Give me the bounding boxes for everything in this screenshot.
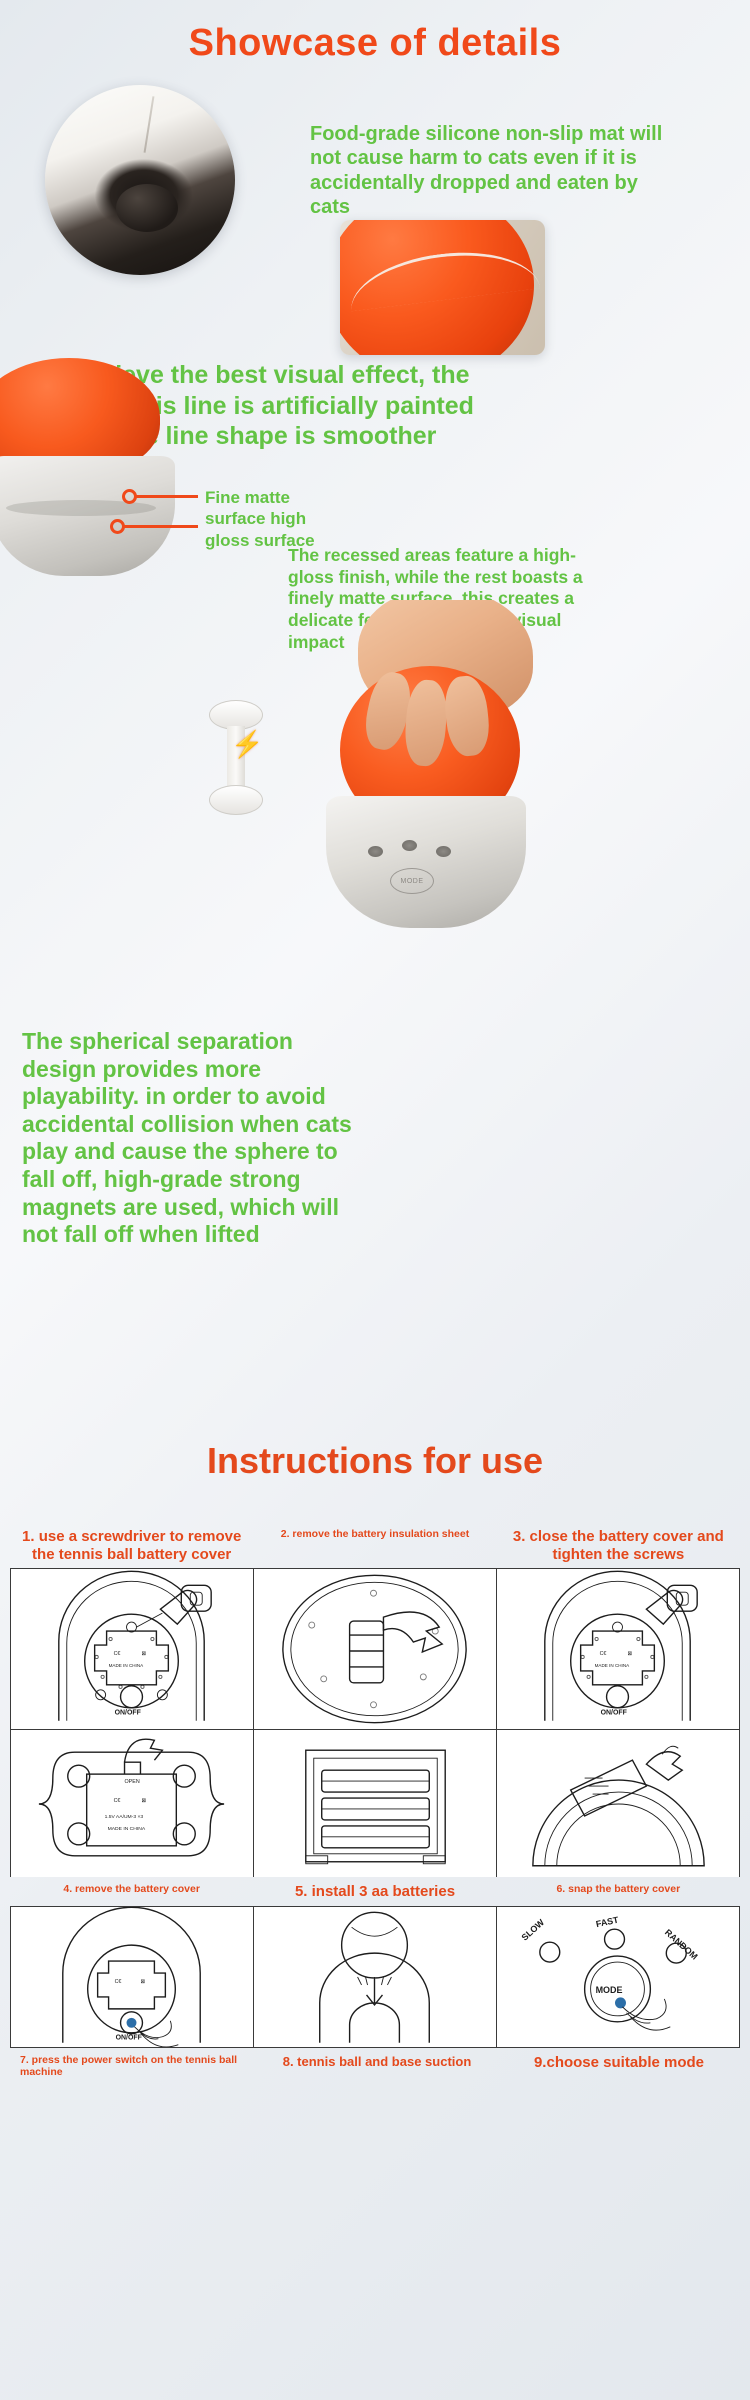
caption-row-2: 4. remove the battery cover 5. install 3… <box>10 1877 740 1906</box>
feature-text-magnet: The spherical separation design provides… <box>22 1028 352 1249</box>
callout-dot-gloss <box>110 519 125 534</box>
base-mode-button: MODE <box>390 868 434 894</box>
svg-text:ON/OFF: ON/OFF <box>116 2035 142 2042</box>
svg-text:MADE IN CHINA: MADE IN CHINA <box>109 1663 145 1668</box>
diagram-row-1: C€ ⊠ MADE IN CHINA ON/OFF <box>10 1568 740 1729</box>
diagram-row-3: C€ ⊠ ON/OFF <box>10 1906 740 2048</box>
step-caption-6: 6. snap the battery cover <box>497 1883 740 1906</box>
svg-text:SLOW: SLOW <box>520 1917 547 1943</box>
magnet-cap-bottom <box>209 785 263 815</box>
svg-text:⊠: ⊠ <box>141 1798 146 1804</box>
svg-text:OPEN: OPEN <box>125 1779 140 1785</box>
svg-text:ON/OFF: ON/OFF <box>115 1710 141 1717</box>
callout-dot-matte <box>122 489 137 504</box>
step-caption-4: 4. remove the battery cover <box>10 1883 253 1906</box>
page-title-instructions: Instructions for use <box>0 1440 750 1482</box>
svg-text:FAST: FAST <box>595 1915 620 1930</box>
step-caption-5: 5. install 3 aa batteries <box>253 1883 496 1906</box>
diagram-cell-2 <box>254 1569 497 1729</box>
diagram-cell-9: MODE SLOW FAST RANDOM <box>497 1907 739 2047</box>
svg-text:1.5V AA/UM-3 ×3: 1.5V AA/UM-3 ×3 <box>105 1814 144 1820</box>
magnet-separation-icon: ⚡ <box>205 700 267 815</box>
page-title-showcase: Showcase of details <box>0 22 750 65</box>
svg-text:C€: C€ <box>115 1979 122 1985</box>
step-caption-8: 8. tennis ball and base suction <box>256 2054 498 2084</box>
svg-text:MADE IN CHINA: MADE IN CHINA <box>108 1826 146 1832</box>
svg-text:⊠: ⊠ <box>140 1979 145 1985</box>
caption-row-1: 1. use a screwdriver to remove the tenni… <box>10 1528 740 1568</box>
diagram-cell-4: OPEN C€ ⊠ 1.5V AA/UM-3 ×3 MADE IN CHINA <box>11 1730 254 1877</box>
svg-text:RANDOM: RANDOM <box>663 1927 700 1961</box>
callout-line-matte <box>136 495 198 498</box>
diagram-cell-5 <box>254 1730 497 1877</box>
svg-text:C€: C€ <box>114 1798 121 1804</box>
svg-text:C€: C€ <box>600 1651 607 1657</box>
svg-text:⊠: ⊠ <box>627 1651 632 1657</box>
diagram-cell-1: C€ ⊠ MADE IN CHINA ON/OFF <box>11 1569 254 1729</box>
base-speaker-hole <box>368 846 383 857</box>
diagram-cell-3: C€ ⊠ MADE IN CHINA ON/OFF <box>497 1569 739 1729</box>
feature-text-silicone-mat: Food-grade silicone non-slip mat will no… <box>310 122 670 220</box>
svg-text:⊠: ⊠ <box>141 1651 146 1657</box>
ball-on-base-photo <box>0 350 200 600</box>
step-caption-1: 1. use a screwdriver to remove the tenni… <box>10 1528 253 1568</box>
svg-text:MADE IN CHINA: MADE IN CHINA <box>595 1663 631 1668</box>
grey-base <box>0 456 175 576</box>
mat-knob <box>116 184 178 232</box>
svg-text:C€: C€ <box>114 1651 121 1657</box>
diagram-cell-7: C€ ⊠ ON/OFF <box>11 1907 254 2047</box>
mode-button-text: MODE <box>596 1985 623 1995</box>
step-caption-9: 9.choose suitable mode <box>498 2054 740 2084</box>
silicone-mat-photo <box>45 85 235 275</box>
base-speaker-hole <box>436 846 451 857</box>
step-caption-2: 2. remove the battery insulation sheet <box>253 1528 496 1568</box>
step-caption-7: 7. press the power switch on the tennis … <box>10 2054 256 2084</box>
svg-text:ON/OFF: ON/OFF <box>601 1710 627 1717</box>
magnet-bolt-icon: ⚡ <box>231 734 263 755</box>
callout-line-gloss <box>124 525 198 528</box>
diagram-row-2: OPEN C€ ⊠ 1.5V AA/UM-3 ×3 MADE IN CHINA <box>10 1729 740 1877</box>
infographic-page: Showcase of details Food-grade silicone … <box>0 0 750 2400</box>
caption-row-3: 7. press the power switch on the tennis … <box>10 2048 740 2084</box>
instructions-grid: 1. use a screwdriver to remove the tenni… <box>10 1528 740 2084</box>
diagram-cell-8 <box>254 1907 497 2047</box>
step-caption-3: 3. close the battery cover and tighten t… <box>497 1528 740 1568</box>
hand-lifting-ball-photo: MODE <box>240 600 570 930</box>
tennis-line-photo <box>340 220 545 355</box>
diagram-cell-6 <box>497 1730 739 1877</box>
base-speaker-hole <box>402 840 417 851</box>
grey-base <box>326 796 526 928</box>
mat-seam <box>143 97 154 154</box>
callout-label-surface: Fine matte surface high gloss surface <box>205 487 350 551</box>
